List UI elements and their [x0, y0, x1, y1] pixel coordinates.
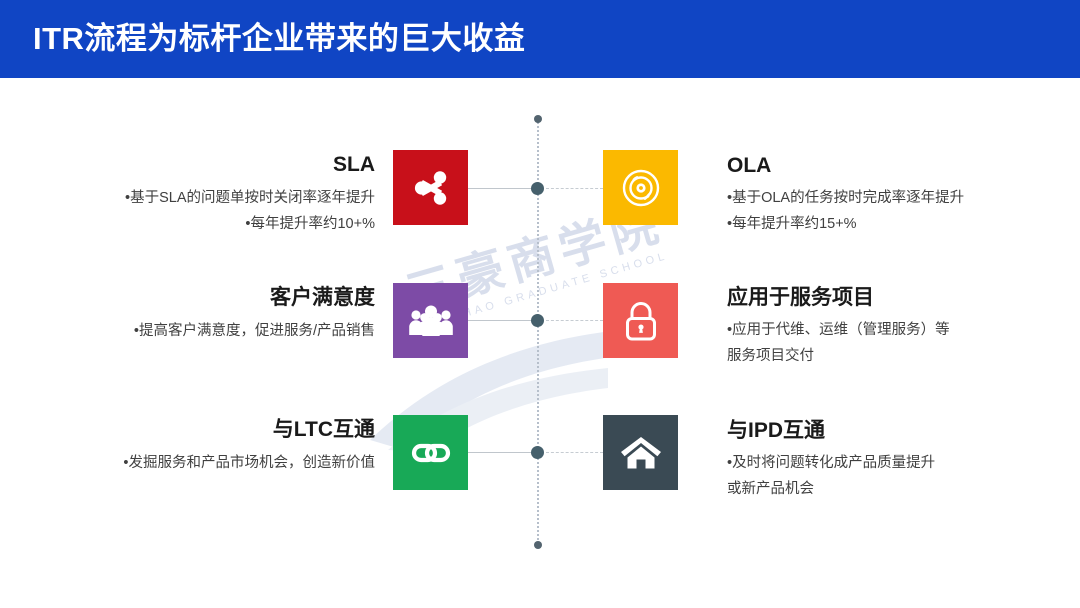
block-title: 应用于服务项目: [727, 284, 950, 312]
block-title: 与LTC互通: [123, 416, 375, 444]
icon-tile-share[interactable]: [393, 150, 468, 225]
text-block-sla: SLA •基于SLA的问题单按时关闭率逐年提升 •每年提升率约10+%: [125, 151, 375, 237]
block-bullet: •提高客户满意度，促进服务/产品销售: [134, 318, 375, 344]
icon-tile-lock[interactable]: [603, 283, 678, 358]
connector-left-row1: [468, 188, 532, 189]
chain-link-icon: [407, 438, 455, 468]
node-dot-row2: [531, 314, 544, 327]
home-icon: [619, 434, 663, 472]
connector-left-row2: [468, 320, 532, 321]
icon-tile-people-group[interactable]: [393, 283, 468, 358]
block-bullet: •应用于代维、运维（管理服务）等: [727, 317, 950, 343]
block-title: 客户满意度: [134, 284, 375, 312]
text-block-service-project: 应用于服务项目 •应用于代维、运维（管理服务）等 服务项目交付: [727, 284, 950, 369]
block-title: 与IPD互通: [727, 417, 935, 445]
text-block-ltc: 与LTC互通 •发掘服务和产品市场机会，创造新价值: [123, 416, 375, 476]
lock-icon: [621, 299, 661, 343]
block-bullet: 或新产品机会: [727, 476, 935, 502]
icon-tile-disc[interactable]: [603, 150, 678, 225]
disc-icon: [618, 165, 664, 211]
icon-tile-home[interactable]: [603, 415, 678, 490]
share-icon: [411, 168, 451, 208]
text-block-ipd: 与IPD互通 •及时将问题转化成产品质量提升 或新产品机会: [727, 417, 935, 502]
people-group-icon: [408, 301, 454, 341]
block-bullet: •基于SLA的问题单按时关闭率逐年提升: [125, 185, 375, 211]
node-dot-row1: [531, 182, 544, 195]
slide-canvas: ITR流程为标杆企业带来的巨大收益 三豪商学院 SANHAO GRADUATE …: [0, 0, 1080, 608]
block-bullet: •每年提升率约10+%: [125, 211, 375, 237]
block-title: OLA: [727, 152, 964, 180]
spine-top-dot: [534, 115, 542, 123]
block-title: SLA: [125, 151, 375, 179]
connector-left-row3: [468, 452, 532, 453]
icon-tile-chain-link[interactable]: [393, 415, 468, 490]
spine-bottom-dot: [534, 541, 542, 549]
node-dot-row3: [531, 446, 544, 459]
connector-right-row2: [546, 320, 603, 321]
block-bullet: •发掘服务和产品市场机会，创造新价值: [123, 450, 375, 476]
page-title: ITR流程为标杆企业带来的巨大收益: [33, 17, 525, 61]
block-bullet: •基于OLA的任务按时完成率逐年提升: [727, 185, 964, 211]
connector-right-row3: [546, 452, 603, 453]
text-block-customer-satisfaction: 客户满意度 •提高客户满意度，促进服务/产品销售: [134, 284, 375, 344]
block-bullet: 服务项目交付: [727, 343, 950, 369]
block-bullet: •及时将问题转化成产品质量提升: [727, 450, 935, 476]
block-bullet: •每年提升率约15+%: [727, 211, 964, 237]
connector-right-row1: [546, 188, 603, 189]
text-block-ola: OLA •基于OLA的任务按时完成率逐年提升 •每年提升率约15+%: [727, 152, 964, 237]
